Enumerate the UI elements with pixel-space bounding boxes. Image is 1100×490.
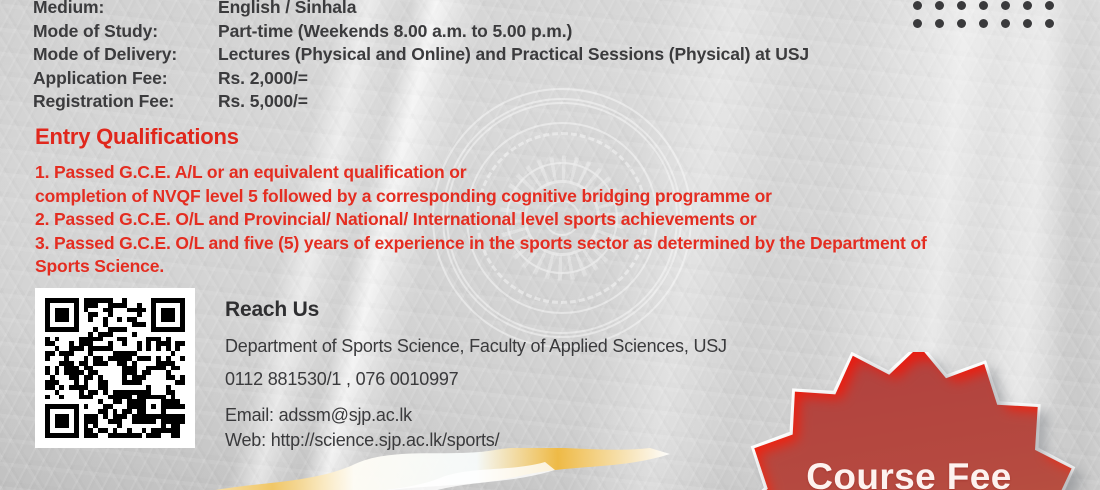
info-label-mode-of-delivery: Mode of Delivery: bbox=[33, 43, 218, 67]
table-row: Mode of Delivery: Lectures (Physical and… bbox=[33, 43, 809, 67]
course-info-table: Medium: English / Sinhala Mode of Study:… bbox=[33, 0, 809, 114]
dot-decoration bbox=[935, 1, 944, 10]
reach-us-title: Reach Us bbox=[225, 298, 727, 322]
dot-decoration bbox=[913, 1, 922, 10]
reach-us-section: Reach Us Department of Sports Science, F… bbox=[225, 298, 727, 453]
reach-us-web[interactable]: Web: http://science.sjp.ac.lk/sports/ bbox=[225, 428, 727, 453]
dot-decoration bbox=[957, 1, 966, 10]
poster-canvas: Medium: English / Sinhala Mode of Study:… bbox=[0, 0, 1100, 490]
dot-decoration bbox=[1045, 19, 1054, 28]
entry-qualification-line-3: 3. Passed G.C.E. O/L and five (5) years … bbox=[35, 232, 927, 256]
course-fee-badge[interactable]: Course Fee bbox=[733, 352, 1085, 490]
info-label-mode-of-study: Mode of Study: bbox=[33, 20, 218, 44]
dot-decoration bbox=[913, 19, 922, 28]
entry-qualification-line-1-cont: completion of NVQF level 5 followed by a… bbox=[35, 185, 927, 209]
qr-code-icon[interactable] bbox=[45, 298, 185, 438]
dot-decoration bbox=[1023, 1, 1032, 10]
entry-qualifications-title: Entry Qualifications bbox=[35, 124, 927, 150]
qr-code-card[interactable] bbox=[35, 288, 195, 448]
entry-qualification-line-2: 2. Passed G.C.E. O/L and Provincial/ Nat… bbox=[35, 208, 927, 232]
info-value-application-fee: Rs. 2,000/= bbox=[218, 67, 308, 91]
dot-decoration bbox=[1001, 1, 1010, 10]
dot-decoration bbox=[1001, 19, 1010, 28]
dot-decoration bbox=[979, 19, 988, 28]
dot-grid-decoration bbox=[913, 1, 1067, 37]
dot-decoration bbox=[979, 1, 988, 10]
reach-us-email[interactable]: Email: adssm@sjp.ac.lk bbox=[225, 403, 727, 428]
table-row: Application Fee: Rs. 2,000/= bbox=[33, 67, 809, 91]
dot-decoration bbox=[957, 19, 966, 28]
dot-decoration bbox=[1045, 1, 1054, 10]
ribbon-decoration bbox=[150, 448, 710, 490]
table-row: Medium: English / Sinhala bbox=[33, 0, 809, 20]
info-value-medium: English / Sinhala bbox=[218, 0, 356, 20]
info-label-medium: Medium: bbox=[33, 0, 218, 20]
info-label-registration-fee: Registration Fee: bbox=[33, 90, 218, 114]
table-row: Registration Fee: Rs. 5,000/= bbox=[33, 90, 809, 114]
dot-decoration bbox=[935, 19, 944, 28]
info-label-application-fee: Application Fee: bbox=[33, 67, 218, 91]
course-fee-label: Course Fee bbox=[733, 456, 1085, 490]
info-value-registration-fee: Rs. 5,000/= bbox=[218, 90, 308, 114]
entry-qualifications-section: Entry Qualifications 1. Passed G.C.E. A/… bbox=[35, 124, 927, 279]
table-row: Mode of Study: Part-time (Weekends 8.00 … bbox=[33, 20, 809, 44]
info-value-mode-of-study: Part-time (Weekends 8.00 a.m. to 5.00 p.… bbox=[218, 20, 572, 44]
info-value-mode-of-delivery: Lectures (Physical and Online) and Pract… bbox=[218, 43, 809, 67]
reach-us-address: Department of Sports Science, Faculty of… bbox=[225, 336, 727, 357]
reach-us-phone[interactable]: 0112 881530/1 , 076 0010997 bbox=[225, 369, 727, 390]
entry-qualification-line-3-cont: Sports Science. bbox=[35, 255, 927, 279]
dot-decoration bbox=[1023, 19, 1032, 28]
entry-qualification-line-1: 1. Passed G.C.E. A/L or an equivalent qu… bbox=[35, 161, 927, 185]
